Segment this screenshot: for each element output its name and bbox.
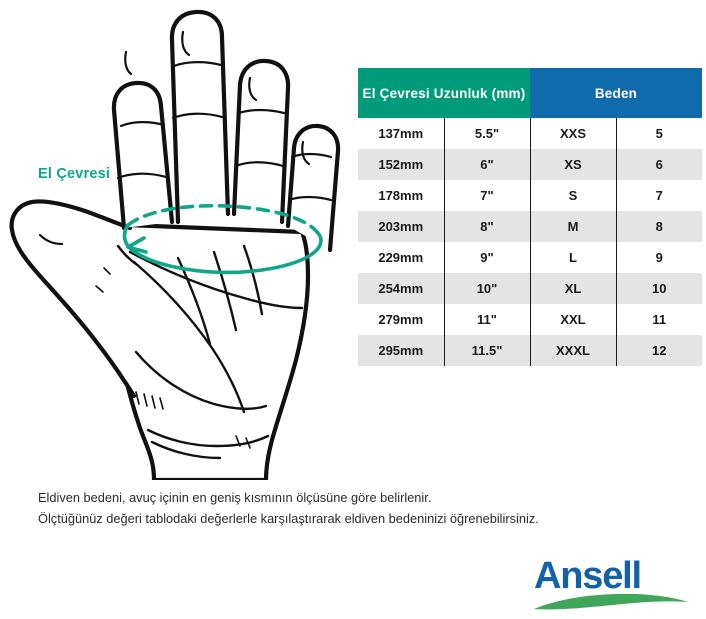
glove-size-chart-page: El Çevresi El Çevresi Uzunluk (mm) Beden… [0, 0, 706, 619]
table-row: 152mm 6" XS 6 [358, 149, 702, 180]
cell-mm: 137mm [358, 118, 444, 149]
instructions-line-2: Ölçtüğünüz değeri tablodaki değerlerle k… [38, 508, 678, 529]
cell-size: M [530, 211, 616, 242]
cell-number: 10 [616, 273, 702, 304]
cell-number: 12 [616, 335, 702, 366]
instructions-note: Eldiven bedeni, avuç içinin en geniş kıs… [38, 487, 678, 529]
header-hand-circumference: El Çevresi Uzunluk (mm) [358, 68, 530, 118]
cell-mm: 229mm [358, 242, 444, 273]
cell-mm: 152mm [358, 149, 444, 180]
cell-mm: 295mm [358, 335, 444, 366]
table-row: 229mm 9" L 9 [358, 242, 702, 273]
cell-number: 8 [616, 211, 702, 242]
glove-size-table: El Çevresi Uzunluk (mm) Beden 137mm 5.5"… [358, 68, 702, 366]
table-row: 254mm 10" XL 10 [358, 273, 702, 304]
cell-mm: 279mm [358, 304, 444, 335]
table-body: 137mm 5.5" XXS 5 152mm 6" XS 6 178mm 7" … [358, 118, 702, 366]
cell-inch: 11.5" [444, 335, 530, 366]
cell-mm: 203mm [358, 211, 444, 242]
hand-illustration: El Çevresi [0, 0, 350, 480]
table-row: 178mm 7" S 7 [358, 180, 702, 211]
cell-inch: 5.5" [444, 118, 530, 149]
cell-number: 5 [616, 118, 702, 149]
hand-diagram-svg [0, 0, 350, 480]
cell-inch: 10" [444, 273, 530, 304]
cell-number: 7 [616, 180, 702, 211]
header-size: Beden [530, 68, 702, 118]
cell-inch: 7" [444, 180, 530, 211]
cell-number: 11 [616, 304, 702, 335]
cell-mm: 178mm [358, 180, 444, 211]
cell-inch: 6" [444, 149, 530, 180]
cell-size: XS [530, 149, 616, 180]
cell-size: L [530, 242, 616, 273]
table-header: El Çevresi Uzunluk (mm) Beden [358, 68, 702, 118]
table-row: 279mm 11" XXL 11 [358, 304, 702, 335]
cell-inch: 9" [444, 242, 530, 273]
cell-size: XXL [530, 304, 616, 335]
ansell-swoosh-icon [532, 592, 692, 614]
hand-circumference-label: El Çevresi [38, 166, 110, 182]
cell-number: 6 [616, 149, 702, 180]
cell-inch: 11" [444, 304, 530, 335]
cell-number: 9 [616, 242, 702, 273]
table-row: 137mm 5.5" XXS 5 [358, 118, 702, 149]
ansell-logo: Ansell [534, 556, 694, 608]
cell-size: XXS [530, 118, 616, 149]
table-row: 203mm 8" M 8 [358, 211, 702, 242]
table-header-row: El Çevresi Uzunluk (mm) Beden [358, 68, 702, 118]
cell-size: XXXL [530, 335, 616, 366]
instructions-line-1: Eldiven bedeni, avuç içinin en geniş kıs… [38, 487, 678, 508]
cell-inch: 8" [444, 211, 530, 242]
cell-mm: 254mm [358, 273, 444, 304]
cell-size: S [530, 180, 616, 211]
ansell-wordmark: Ansell [534, 556, 641, 596]
cell-size: XL [530, 273, 616, 304]
table-row: 295mm 11.5" XXXL 12 [358, 335, 702, 366]
